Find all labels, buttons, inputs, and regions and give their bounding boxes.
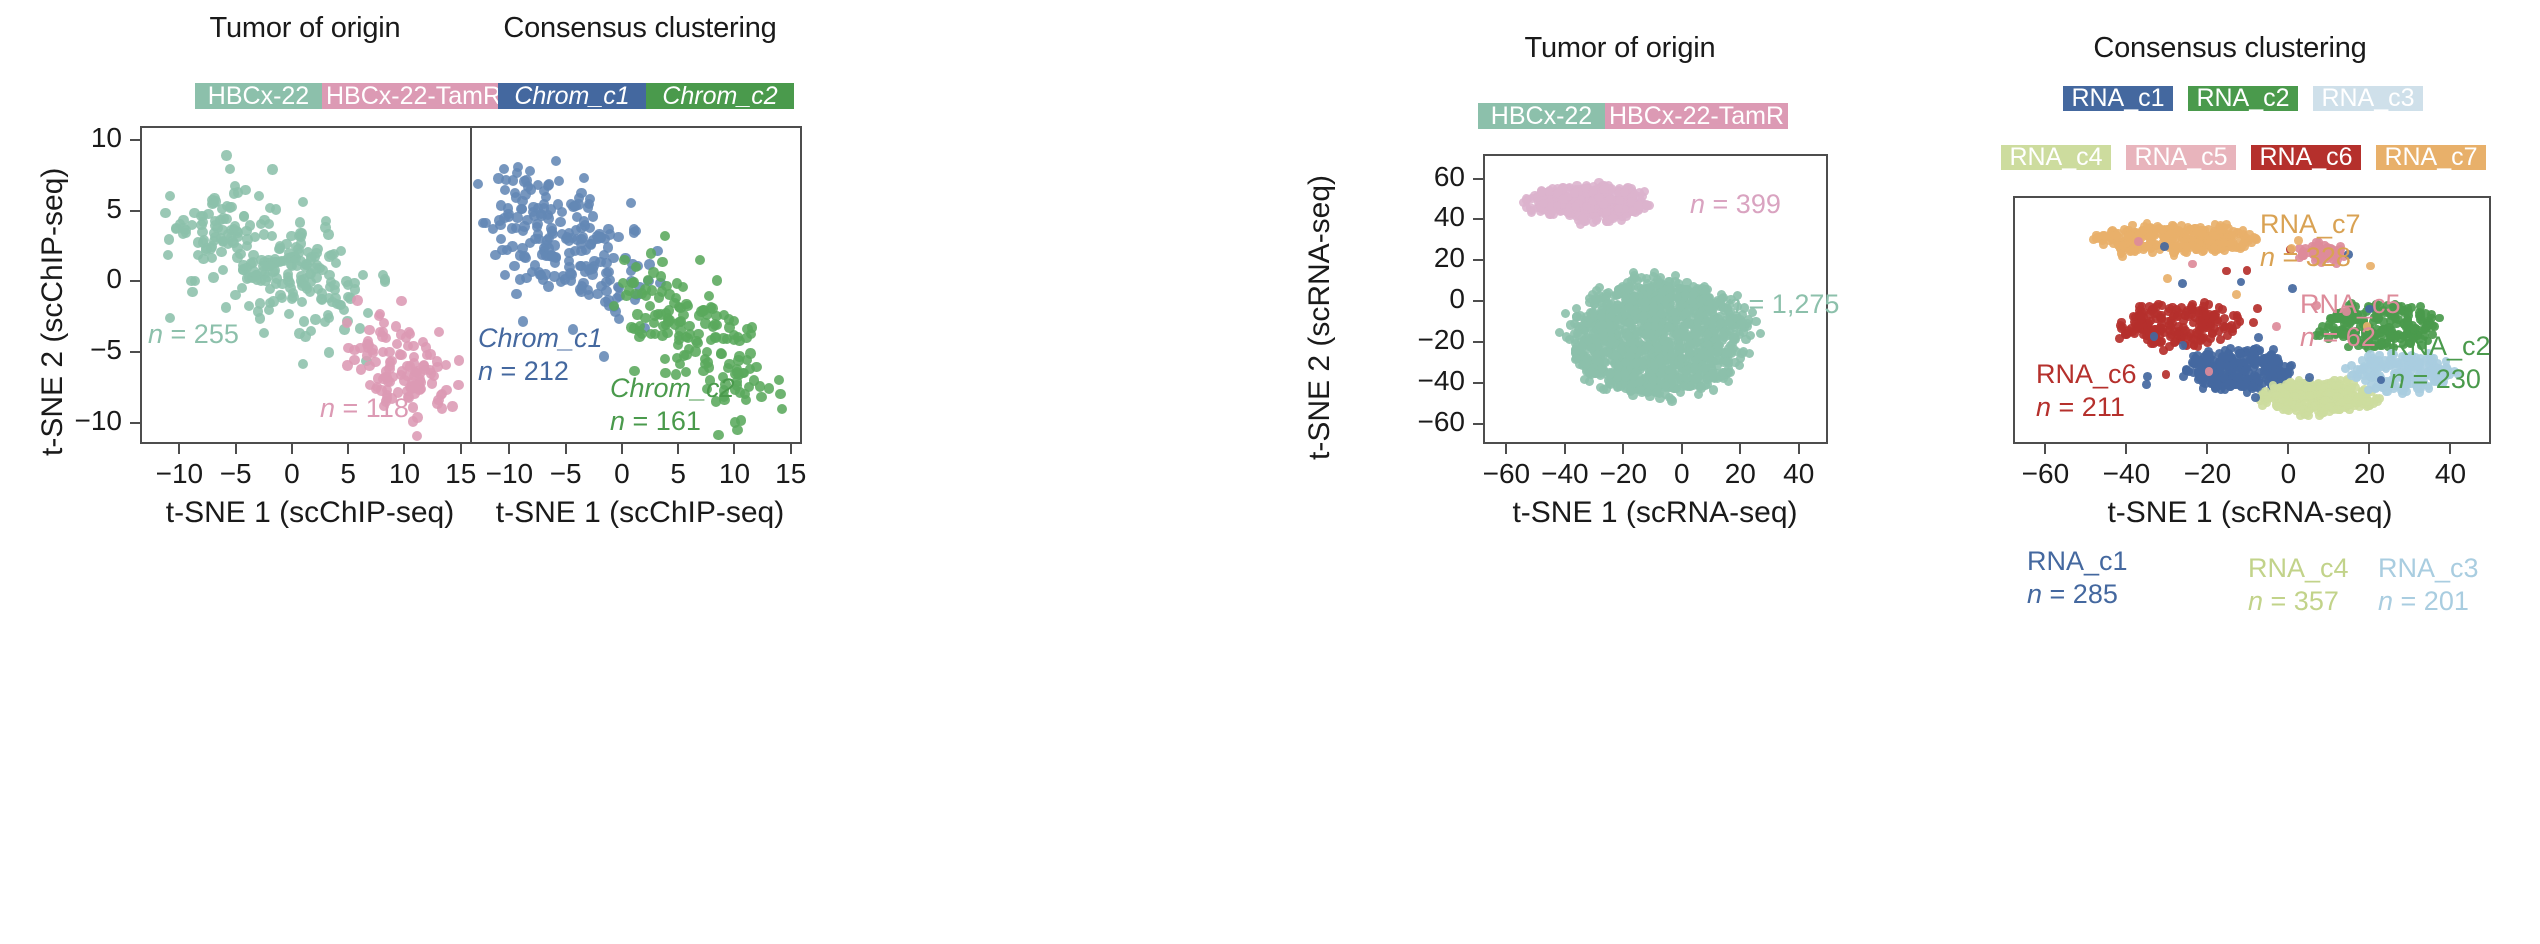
- scatter-point: [2243, 266, 2252, 275]
- scatter-point: [1649, 302, 1658, 311]
- scatter-point: [618, 278, 628, 288]
- cluster-annotation: Chrom_c2n = 161: [610, 372, 735, 438]
- scatter-point: [364, 361, 374, 371]
- scatter-point: [2305, 391, 2314, 400]
- scatter-point: [2162, 370, 2171, 379]
- annotation-line: n = 118: [320, 392, 409, 425]
- scatter-point: [320, 317, 330, 327]
- scatter-point: [1685, 350, 1694, 359]
- scatter-point: [626, 198, 636, 208]
- scatter-point: [609, 301, 619, 311]
- scatter-point: [295, 217, 305, 227]
- scatter-point: [507, 223, 517, 233]
- y-tick-label: −40: [1345, 365, 1465, 397]
- scatter-point: [2235, 349, 2244, 358]
- legend-item-rna-c3[interactable]: RNA_c3: [2313, 86, 2423, 111]
- legend-item-hbcx22[interactable]: HBCx-22: [1478, 103, 1605, 129]
- scatter-point: [502, 245, 512, 255]
- annotation-line: RNA_c4: [2248, 552, 2349, 585]
- scatter-point: [741, 333, 751, 343]
- legend-label: RNA_c5: [2134, 145, 2227, 170]
- y-tick-label: 40: [1345, 201, 1465, 233]
- annotation-line: Chrom_c1: [478, 322, 603, 355]
- scatter-point: [1571, 202, 1580, 211]
- y-tick-label: 0: [1345, 283, 1465, 315]
- scatter-point: [541, 240, 551, 250]
- scatter-point: [1604, 288, 1613, 297]
- scatter-point: [729, 316, 739, 326]
- scatter-point: [260, 275, 270, 285]
- scatter-point: [160, 208, 170, 218]
- scatter-point: [412, 412, 422, 422]
- scatter-point: [165, 191, 175, 201]
- scatter-point: [2223, 362, 2232, 371]
- scatter-point: [1574, 331, 1583, 340]
- scatter-point: [543, 213, 553, 223]
- scatter-point: [1705, 293, 1714, 302]
- scatter-point: [259, 328, 269, 338]
- scatter-point: [1539, 199, 1548, 208]
- scatter-point: [2362, 397, 2371, 406]
- scatter-point: [1583, 354, 1592, 363]
- scatter-point: [2099, 240, 2108, 249]
- scatter-point: [1582, 312, 1591, 321]
- scatter-point: [2205, 367, 2214, 376]
- x-tick-mark: [2287, 444, 2289, 454]
- legend-srna-consensus-row1: RNA_c1 RNA_c2 RNA_c3: [2063, 86, 2423, 111]
- scatter-point: [578, 232, 588, 242]
- legend-label: RNA_c4: [2009, 145, 2102, 170]
- scatter-point: [299, 316, 309, 326]
- cluster-annotation: RNA_c4n = 357: [2248, 552, 2349, 618]
- scatter-point: [520, 253, 530, 263]
- x-tick-mark: [1505, 444, 1507, 454]
- scatter-point: [255, 298, 265, 308]
- legend-item-rna-c2[interactable]: RNA_c2: [2188, 86, 2298, 111]
- scatter-point: [2199, 302, 2208, 311]
- scatter-point: [221, 150, 231, 160]
- scatter-point: [1601, 358, 1610, 367]
- scatter-point: [441, 360, 451, 370]
- x-tick-mark: [291, 444, 293, 454]
- scatter-point: [355, 343, 365, 353]
- scatter-point: [244, 301, 254, 311]
- annotation-line: n = 1,275: [1726, 288, 1839, 321]
- legend-item-rna-c5[interactable]: RNA_c5: [2126, 145, 2236, 170]
- cluster-annotation: n = 399: [1690, 188, 1781, 221]
- figure-root: Tumor of origin HBCx-22 HBCx-22-TamR t-S…: [0, 0, 2540, 944]
- scatter-point: [2253, 304, 2262, 313]
- scatter-point: [657, 330, 667, 340]
- scatter-point: [1599, 185, 1608, 194]
- scatter-point: [522, 215, 532, 225]
- scatter-point: [164, 234, 174, 244]
- scatter-point: [218, 213, 228, 223]
- scatter-point: [601, 277, 611, 287]
- scatter-point: [379, 318, 389, 328]
- x-axis-label-srna-consensus: t-SNE 1 (scRNA-seq): [2060, 496, 2440, 530]
- legend-label: RNA_c7: [2384, 145, 2477, 170]
- scatter-point: [554, 176, 564, 186]
- scatter-point: [298, 197, 308, 207]
- x-tick-mark: [2368, 444, 2370, 454]
- scatter-point: [494, 215, 504, 225]
- scatter-point: [678, 282, 688, 292]
- scatter-point: [2242, 355, 2251, 364]
- annotation-line: n = 201: [2378, 585, 2479, 618]
- scatter-point: [706, 302, 716, 312]
- annotation-line: Chrom_c2: [610, 372, 735, 405]
- scatter-point: [298, 359, 308, 369]
- legend-item-hbcx22-tamr[interactable]: HBCx-22-TamR: [1605, 103, 1788, 129]
- scatter-point: [1707, 363, 1716, 372]
- scatter-point: [535, 270, 545, 280]
- scatter-point: [323, 229, 333, 239]
- scatter-point: [1628, 207, 1637, 216]
- y-tick-label: −5: [2, 334, 122, 366]
- scatter-point: [295, 228, 305, 238]
- scatter-point: [695, 255, 705, 265]
- scatter-point: [1561, 309, 1570, 318]
- scatter-point: [190, 276, 200, 286]
- x-tick-mark: [733, 444, 735, 454]
- y-tick-label: −10: [2, 405, 122, 437]
- scatter-point: [2232, 290, 2241, 299]
- scatter-point: [2216, 335, 2225, 344]
- legend-label: RNA_c1: [2071, 86, 2164, 111]
- scatter-point: [1709, 385, 1718, 394]
- scatter-point: [473, 179, 483, 189]
- scatter-point: [2366, 373, 2375, 382]
- scatter-point: [384, 347, 394, 357]
- scatter-point: [2137, 312, 2146, 321]
- legend-item-hbcx22[interactable]: HBCx-22: [195, 83, 322, 109]
- scatter-point: [248, 266, 258, 276]
- scatter-point: [2158, 301, 2167, 310]
- scatter-point: [187, 287, 197, 297]
- scatter-point: [1642, 201, 1651, 210]
- scatter-point: [2134, 237, 2143, 246]
- scatter-point: [317, 294, 327, 304]
- scatter-point: [712, 320, 722, 330]
- scatter-point: [1726, 368, 1735, 377]
- scatter-point: [669, 298, 679, 308]
- scatter-point: [509, 261, 519, 271]
- scatter-point: [555, 217, 565, 227]
- scatter-point: [565, 268, 575, 278]
- y-tick-mark: [130, 139, 140, 141]
- scatter-point: [276, 256, 286, 266]
- scatter-point: [490, 250, 500, 260]
- legend-item-rna-c1[interactable]: RNA_c1: [2063, 86, 2173, 111]
- scatter-point: [570, 201, 580, 211]
- x-tick-mark: [1798, 444, 1800, 454]
- scatter-point: [1624, 303, 1633, 312]
- scatter-point: [2173, 313, 2182, 322]
- scatter-point: [775, 389, 785, 399]
- annotation-line: n = 161: [610, 405, 735, 438]
- scatter-point: [1598, 320, 1607, 329]
- legend-item-chrom-c1[interactable]: Chrom_c1: [498, 83, 646, 109]
- scatter-point: [2187, 334, 2196, 343]
- scatter-point: [2146, 317, 2155, 326]
- annotation-line: n = 211: [2036, 391, 2137, 424]
- x-tick-mark: [403, 444, 405, 454]
- y-tick-mark: [1473, 423, 1483, 425]
- scatter-point: [587, 264, 597, 274]
- scatter-point: [163, 250, 173, 260]
- scatter-point: [2224, 380, 2233, 389]
- scatter-point: [660, 354, 670, 364]
- scatter-point: [408, 402, 418, 412]
- x-tick-mark: [178, 444, 180, 454]
- legend-schip-tumor: HBCx-22 HBCx-22-TamR: [195, 83, 505, 109]
- legend-label: HBCx-22-TamR: [1609, 104, 1784, 129]
- scatter-point: [212, 223, 222, 233]
- scatter-point: [404, 327, 414, 337]
- scatter-point: [777, 404, 787, 414]
- scatter-point: [712, 275, 722, 285]
- scatter-point: [1626, 387, 1635, 396]
- scatter-point: [447, 401, 457, 411]
- x-tick-mark: [2125, 444, 2127, 454]
- x-tick-mark: [1564, 444, 1566, 454]
- scatter-point: [306, 326, 316, 336]
- scatter-point: [1689, 290, 1698, 299]
- scatter-point: [661, 281, 671, 291]
- scatter-point: [2427, 310, 2436, 319]
- y-tick-mark: [1473, 300, 1483, 302]
- scatter-point: [1737, 349, 1746, 358]
- scatter-point: [613, 232, 623, 242]
- legend-label: RNA_c3: [2321, 86, 2414, 111]
- scatter-point: [1615, 196, 1624, 205]
- scatter-point: [1696, 384, 1705, 393]
- scatter-point: [267, 231, 277, 241]
- legend-label: Chrom_c1: [514, 84, 629, 109]
- scatter-point: [2344, 386, 2353, 395]
- scatter-point: [2163, 274, 2172, 283]
- scatter-point: [238, 260, 248, 270]
- scatter-point: [267, 164, 277, 174]
- scatter-point: [306, 254, 316, 264]
- legend-item-rna-c6[interactable]: RNA_c6: [2251, 145, 2361, 170]
- scatter-point: [681, 332, 691, 342]
- scatter-point: [2159, 346, 2168, 355]
- scatter-point: [1643, 322, 1652, 331]
- legend-srna-consensus-row2: RNA_c4 RNA_c5 RNA_c6 RNA_c7: [2001, 145, 2486, 170]
- scatter-point: [749, 375, 759, 385]
- y-tick-label: 0: [2, 263, 122, 295]
- x-tick-mark: [621, 444, 623, 454]
- scatter-point: [2305, 373, 2314, 382]
- scatter-point: [603, 224, 613, 234]
- scatter-point: [324, 251, 334, 261]
- scatter-point: [2225, 323, 2234, 332]
- scatter-point: [500, 185, 510, 195]
- legend-label: HBCx-22: [208, 84, 309, 109]
- scatter-point: [2142, 380, 2151, 389]
- scatter-point: [1656, 376, 1665, 385]
- scatter-point: [341, 276, 351, 286]
- legend-item-rna-c7[interactable]: RNA_c7: [2376, 145, 2486, 170]
- scatter-point: [384, 364, 394, 374]
- scatter-point: [427, 378, 437, 388]
- legend-item-chrom-c2[interactable]: Chrom_c2: [646, 83, 794, 109]
- legend-label: HBCx-22-TamR: [326, 84, 501, 109]
- scatter-point: [592, 231, 602, 241]
- scatter-point: [1559, 194, 1568, 203]
- scatter-point: [648, 267, 658, 277]
- x-tick-mark: [2044, 444, 2046, 454]
- scatter-point: [511, 289, 521, 299]
- scatter-point: [684, 321, 694, 331]
- scatter-point: [2118, 241, 2127, 250]
- scatter-point: [1592, 356, 1601, 365]
- scatter-point: [1756, 329, 1765, 338]
- scatter-point: [343, 343, 353, 353]
- scatter-point: [1572, 312, 1581, 321]
- scatter-point: [631, 226, 641, 236]
- scatter-point: [211, 196, 221, 206]
- legend-label: HBCx-22: [1491, 104, 1592, 129]
- scatter-point: [2222, 267, 2231, 276]
- scatter-point: [608, 253, 618, 263]
- scatter-point: [637, 329, 647, 339]
- annotation-line: n = 328: [2260, 241, 2361, 274]
- annotation-line: n = 255: [148, 318, 239, 351]
- scatter-point: [2146, 232, 2155, 241]
- scatter-point: [518, 226, 528, 236]
- scatter-point: [342, 318, 352, 328]
- scatter-point: [601, 286, 611, 296]
- annotation-line: n = 62: [2300, 321, 2401, 354]
- scatter-point: [2435, 314, 2444, 323]
- scatter-point: [619, 255, 629, 265]
- scatter-point: [2220, 238, 2229, 247]
- scatter-point: [1638, 357, 1647, 366]
- scatter-point: [1640, 187, 1649, 196]
- scatter-point: [2272, 322, 2281, 331]
- scatter-point: [330, 293, 340, 303]
- scatter-point: [2304, 411, 2313, 420]
- scatter-point: [1702, 317, 1711, 326]
- scatter-point: [2134, 321, 2143, 330]
- scatter-point: [641, 291, 651, 301]
- scatter-point: [265, 298, 275, 308]
- scatter-point: [1613, 300, 1622, 309]
- scatter-point: [2375, 394, 2384, 403]
- x-tick-mark: [1739, 444, 1741, 454]
- scatter-point: [2178, 279, 2187, 288]
- scatter-point: [358, 270, 368, 280]
- scatter-point: [543, 281, 553, 291]
- x-tick-mark: [2449, 444, 2451, 454]
- scatter-point: [285, 283, 295, 293]
- scatter-point: [2160, 242, 2169, 251]
- scatter-point: [2241, 366, 2250, 375]
- scatter-point: [581, 245, 591, 255]
- scatter-point: [233, 187, 243, 197]
- scatter-point: [2366, 262, 2375, 271]
- plot-area-schip-tumor[interactable]: [140, 126, 472, 444]
- scatter-point: [579, 173, 589, 183]
- scatter-point: [1662, 327, 1671, 336]
- scatter-point: [287, 293, 297, 303]
- scatter-point: [239, 211, 249, 221]
- cluster-annotation: RNA_c1n = 285: [2027, 545, 2128, 611]
- x-tick-mark: [508, 444, 510, 454]
- scatter-point: [1592, 286, 1601, 295]
- scatter-point: [2272, 391, 2281, 400]
- scatter-point: [396, 296, 406, 306]
- x-tick-mark: [347, 444, 349, 454]
- scatter-point: [496, 234, 506, 244]
- x-tick-mark: [235, 444, 237, 454]
- legend-title-srna-tumor: Tumor of origin: [1450, 32, 1790, 65]
- scatter-point: [2100, 231, 2109, 240]
- scatter-point: [412, 431, 422, 441]
- scatter-point: [2415, 308, 2424, 317]
- legend-item-rna-c4[interactable]: RNA_c4: [2001, 145, 2111, 170]
- scatter-point: [1723, 348, 1732, 357]
- scatter-point: [556, 277, 566, 287]
- scatter-point: [1641, 297, 1650, 306]
- scatter-point: [1671, 277, 1680, 286]
- scatter-point: [284, 309, 294, 319]
- scatter-point: [1592, 216, 1601, 225]
- y-tick-label: −20: [1345, 324, 1465, 356]
- scatter-point: [2200, 246, 2209, 255]
- legend-label: RNA_c6: [2259, 145, 2352, 170]
- y-tick-mark: [130, 280, 140, 282]
- scatter-point: [493, 173, 503, 183]
- scatter-point: [547, 251, 557, 261]
- y-tick-label: 20: [1345, 242, 1465, 274]
- scatter-point: [259, 215, 269, 225]
- scatter-point: [245, 220, 255, 230]
- scatter-point: [660, 231, 670, 241]
- scatter-point: [2112, 231, 2121, 240]
- scatter-point: [434, 327, 444, 337]
- y-tick-mark: [130, 210, 140, 212]
- scatter-point: [258, 261, 268, 271]
- annotation-line: RNA_c3: [2378, 552, 2479, 585]
- scatter-point: [2236, 236, 2245, 245]
- scatter-point: [250, 232, 260, 242]
- scatter-point: [588, 211, 598, 221]
- cluster-annotation: RNA_c3n = 201: [2378, 552, 2479, 618]
- scatter-point: [654, 292, 664, 302]
- scatter-point: [2288, 284, 2297, 293]
- scatter-point: [681, 299, 691, 309]
- scatter-point: [221, 302, 231, 312]
- scatter-point: [1690, 329, 1699, 338]
- scatter-point: [1562, 332, 1571, 341]
- x-tick-mark: [677, 444, 679, 454]
- scatter-point: [1639, 311, 1648, 320]
- y-tick-mark: [130, 351, 140, 353]
- scatter-point: [226, 202, 236, 212]
- scatter-point: [2188, 260, 2197, 269]
- scatter-point: [1670, 308, 1679, 317]
- scatter-point: [1741, 335, 1750, 344]
- scatter-point: [517, 196, 527, 206]
- scatter-point: [2229, 311, 2238, 320]
- scatter-point: [2228, 238, 2237, 247]
- scatter-point: [310, 314, 320, 324]
- legend-item-hbcx22-tamr[interactable]: HBCx-22-TamR: [322, 83, 505, 109]
